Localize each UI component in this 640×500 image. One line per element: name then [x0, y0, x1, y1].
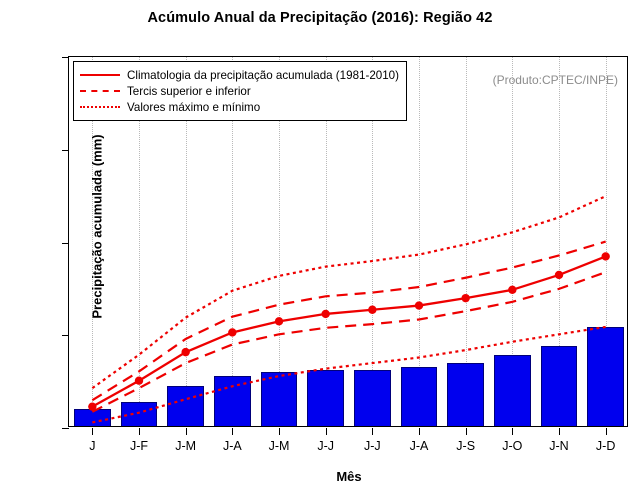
y-axis-tick — [62, 243, 69, 244]
legend-item-label: Tercis superior e inferior — [127, 85, 251, 98]
y-axis-tick — [62, 150, 69, 151]
legend-item-label: Climatologia da precipitação acumulada (… — [127, 69, 399, 82]
dashed-line-key — [80, 85, 120, 97]
dotted-line-key — [80, 101, 120, 113]
series-line — [92, 327, 605, 423]
series-marker — [601, 252, 609, 260]
x-axis-tick — [372, 428, 373, 435]
x-axis-tick — [606, 428, 607, 435]
x-axis-tick — [279, 428, 280, 435]
chart-legend: Climatologia da precipitação acumulada (… — [73, 61, 407, 121]
x-axis-tick — [466, 428, 467, 435]
x-axis-tick — [419, 428, 420, 435]
series-marker — [135, 376, 143, 384]
series-line — [92, 242, 605, 401]
series-marker — [368, 306, 376, 314]
series-line — [92, 196, 605, 388]
y-axis-tick — [62, 428, 69, 429]
chart-page: Acúmulo Anual da Precipitação (2016): Re… — [0, 0, 640, 500]
legend-item: Valores máximo e mínimo — [80, 99, 399, 115]
x-axis-tick — [186, 428, 187, 435]
legend-item-label: Valores máximo e mínimo — [127, 101, 260, 114]
series-marker — [228, 328, 236, 336]
source-annotation: (Produto:CPTEC/INPE) — [493, 73, 618, 87]
series-line — [92, 272, 605, 412]
solid-line-key — [80, 69, 120, 81]
x-axis-tick — [92, 428, 93, 435]
series-marker — [555, 271, 563, 279]
legend-item: Climatologia da precipitação acumulada (… — [80, 67, 399, 83]
y-axis-tick — [62, 335, 69, 336]
series-marker — [181, 348, 189, 356]
x-axis-label: Mês — [69, 469, 629, 484]
x-axis-tick — [232, 428, 233, 435]
legend-item: Tercis superior e inferior — [80, 83, 399, 99]
series-marker — [275, 317, 283, 325]
series-marker — [415, 301, 423, 309]
x-axis-tick-label: J-D — [576, 439, 636, 453]
x-axis-tick — [559, 428, 560, 435]
x-axis-tick — [326, 428, 327, 435]
y-axis-label: Precipitação acumulada (mm) — [90, 107, 105, 347]
y-axis-tick — [62, 57, 69, 58]
series-line — [92, 256, 605, 406]
x-axis-tick — [139, 428, 140, 435]
series-marker — [508, 286, 516, 294]
series-marker — [461, 294, 469, 302]
series-marker — [321, 310, 329, 318]
plot-area: 01000200030004000 JJ-FJ-MJ-AJ-MJ-JJ-JJ-A… — [68, 56, 628, 427]
chart-title: Acúmulo Anual da Precipitação (2016): Re… — [0, 10, 640, 26]
x-axis-tick — [512, 428, 513, 435]
